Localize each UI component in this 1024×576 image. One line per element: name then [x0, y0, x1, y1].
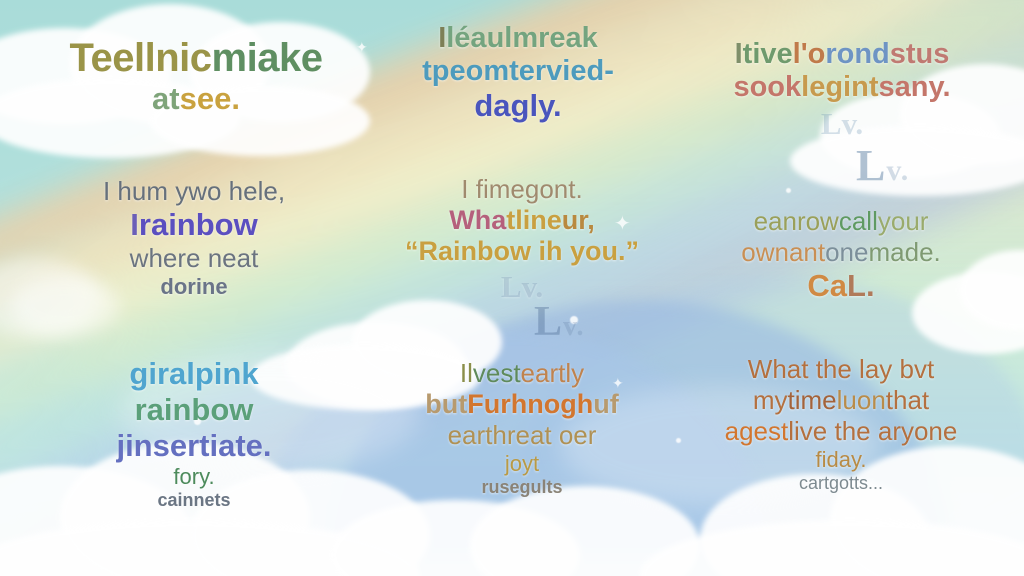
text-line: fory.	[38, 464, 350, 490]
text-word: at	[152, 81, 180, 116]
text-block-8: IlvesteartlybutFurhnoghufearthreat oerjo…	[372, 358, 672, 498]
text-word: ownant	[741, 237, 825, 267]
text-word: earthreat oer	[448, 420, 597, 450]
text-word: your	[878, 206, 929, 236]
text-line: Irainbow	[34, 207, 354, 243]
text-word: Fur	[467, 389, 511, 419]
text-line: I hum ywo hele,	[34, 176, 354, 207]
text-word: eanrow	[754, 206, 839, 236]
text-word: sook	[733, 71, 801, 103]
text-line: sooklegintsany.	[672, 71, 1012, 104]
text-line: rusegults	[372, 477, 672, 498]
text-word: hnogh	[511, 389, 593, 419]
text-line: “Rainbow ih you.”	[372, 236, 672, 267]
text-line: cartgotts...	[668, 473, 1014, 494]
text-word: I	[130, 207, 139, 242]
text-word: live the aryone	[788, 416, 957, 446]
text-word: dorine	[160, 274, 227, 299]
text-word: I hum ywo hele,	[103, 176, 285, 206]
text-line: Teellnicmiake	[20, 36, 372, 81]
text-word: my	[753, 385, 788, 415]
text-word: miake	[212, 36, 323, 80]
text-word: Il	[460, 358, 473, 388]
text-block-3: Itivel'orondstussooklegintsany.Lv.	[672, 38, 1012, 142]
text-word: agest	[725, 416, 789, 446]
rainbow-quote-poster: ✦ ✦ ✦ Lv. Lv. Teellnicmiakeatsee. Iléaul…	[0, 0, 1024, 576]
text-word: uf	[593, 389, 618, 419]
text-line: I fimegont.	[372, 174, 672, 205]
text-word: What the lay bvt	[748, 354, 934, 384]
text-line: CaL.	[676, 268, 1006, 304]
text-word: legint	[801, 71, 878, 103]
text-word: fiday.	[816, 447, 867, 472]
text-line: rainbow	[38, 392, 350, 428]
text-line: Lv.	[672, 106, 1012, 142]
text-line: atsee.	[20, 81, 372, 117]
text-word: luon	[837, 385, 886, 415]
text-word: one	[825, 237, 868, 267]
text-block-5: I fimegont.Whatlineur,“Rainbow ih you.”L…	[372, 174, 672, 305]
text-word: but	[425, 389, 467, 419]
text-word: I fimegont.	[461, 174, 582, 204]
text-line: eanrowcallyour	[676, 206, 1006, 237]
text-line: What the lay bvt	[668, 354, 1014, 385]
text-line: where neat	[34, 243, 354, 274]
text-word: tive	[743, 38, 793, 70]
text-block-4: I hum ywo hele,Irainbowwhere neatdorine	[34, 176, 354, 300]
text-word: léaulmreak	[446, 22, 598, 54]
text-word: time	[788, 385, 837, 415]
text-line: joyt	[372, 451, 672, 477]
text-line: giralpink	[38, 356, 350, 392]
text-word: ur,	[562, 205, 595, 235]
text-line: Itivel'orondstus	[672, 38, 1012, 71]
text-word: eartly	[521, 358, 585, 388]
text-word: Teellnic	[70, 36, 212, 80]
text-word: tpeomtervied-	[422, 55, 614, 87]
text-line: Iléaulmreak	[368, 22, 668, 55]
text-word: Ca	[807, 268, 847, 303]
text-word: cainnets	[157, 490, 230, 510]
text-block-7: giralpinkrainbowjinsertiate.fory.cainnet…	[38, 356, 350, 511]
text-word: vest	[473, 358, 521, 388]
text-line: jinsertiate.	[38, 428, 350, 464]
text-word: “Rainbow ih you.”	[405, 236, 639, 266]
text-word: l'o	[793, 38, 826, 70]
text-line: dagly.	[368, 88, 668, 124]
text-word: rainbow	[135, 392, 254, 427]
text-word: joyt	[505, 451, 539, 476]
text-line: agestlive the aryone	[668, 416, 1014, 447]
text-word: that	[886, 385, 929, 415]
text-block-6: eanrowcallyourownantonemade.CaL.	[676, 206, 1006, 304]
text-block-1: Teellnicmiakeatsee.	[20, 36, 372, 117]
text-line: earthreat oer	[372, 420, 672, 451]
text-word: cartgotts...	[799, 473, 883, 493]
text-word: where neat	[130, 243, 259, 273]
text-word: jins	[116, 428, 169, 463]
text-word: I	[735, 38, 743, 70]
text-block-9: What the lay bvtmytimeluonthatagestlive …	[668, 354, 1014, 494]
text-word: L.	[847, 268, 875, 303]
text-word: tline	[506, 205, 562, 235]
text-line: mytimeluonthat	[668, 385, 1014, 416]
text-word: fory.	[173, 464, 214, 489]
text-line: fiday.	[668, 447, 1014, 473]
text-word: dagly.	[474, 88, 561, 123]
text-line: Lv.	[372, 269, 672, 305]
text-word: ertiate.	[170, 428, 272, 463]
text-word: rusegults	[481, 477, 562, 497]
text-line: cainnets	[38, 490, 350, 511]
text-word: Lv.	[501, 269, 543, 304]
text-word: made.	[868, 237, 940, 267]
text-line: Ilvesteartly	[372, 358, 672, 389]
text-word: Wha	[449, 205, 506, 235]
text-line: butFurhnoghuf	[372, 389, 672, 420]
text-line: tpeomtervied-	[368, 55, 668, 88]
text-word: giralpink	[129, 356, 258, 391]
text-word: call	[839, 206, 878, 236]
text-word: stus	[890, 38, 950, 70]
text-word: see.	[180, 81, 240, 116]
text-word: Lv.	[821, 106, 863, 141]
text-line: Whatlineur,	[372, 205, 672, 236]
text-word: rond	[825, 38, 889, 70]
text-line: ownantonemade.	[676, 237, 1006, 268]
text-word: rainbow	[139, 207, 258, 242]
text-line: dorine	[34, 274, 354, 300]
text-word: sany.	[879, 71, 951, 103]
text-block-2: Iléaulmreaktpeomtervied-dagly.	[368, 22, 668, 124]
